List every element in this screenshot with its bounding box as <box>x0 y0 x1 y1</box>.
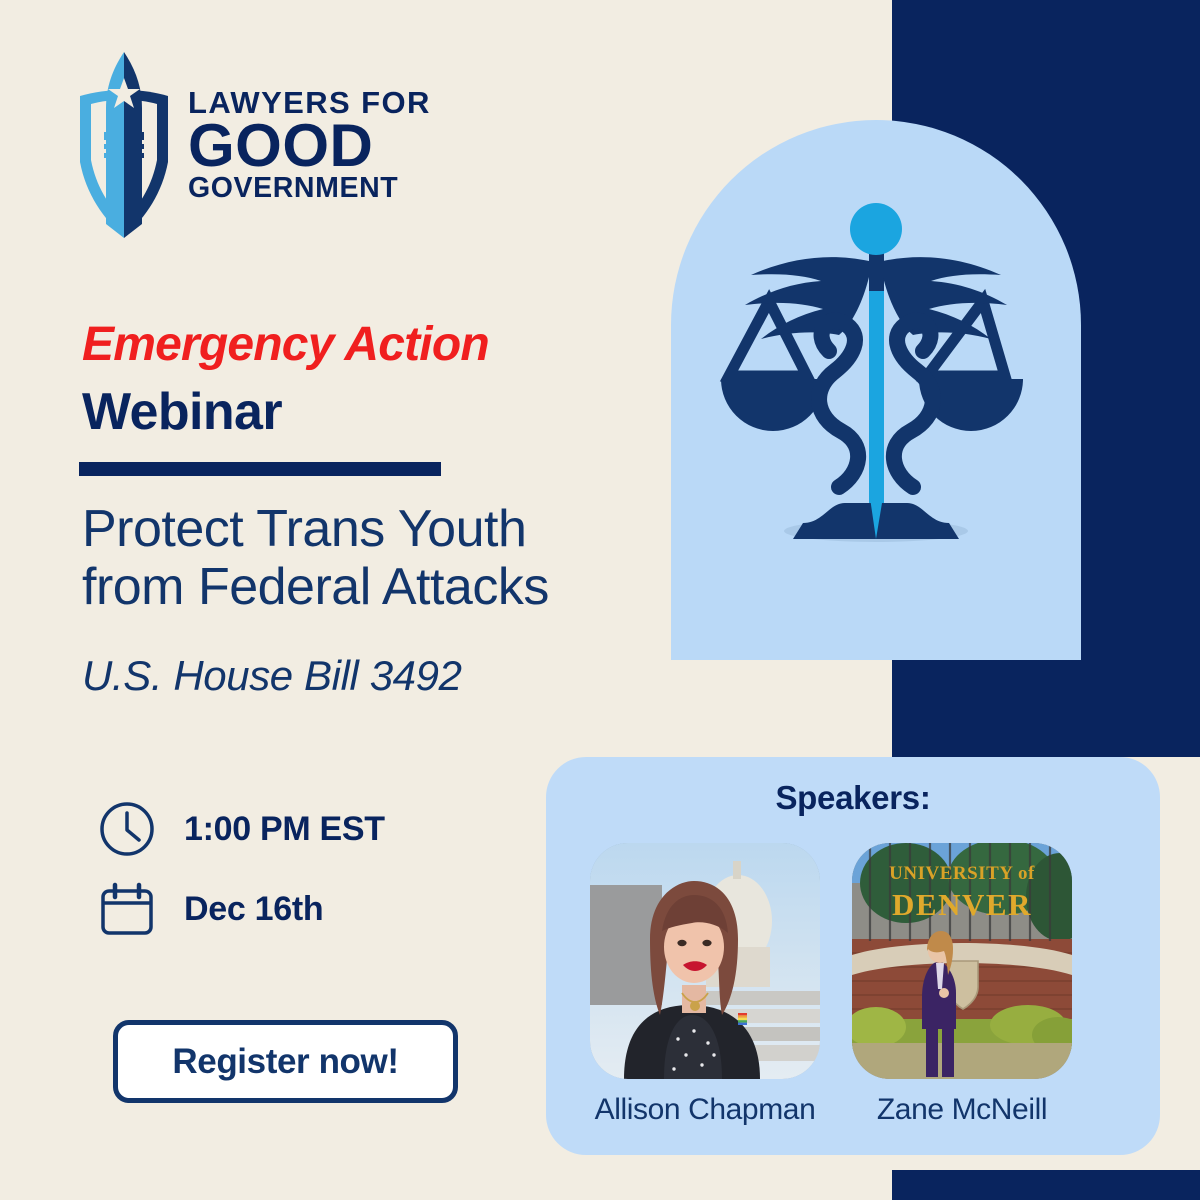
detail-row-date: Dec 16th <box>98 880 385 938</box>
logo-line-3: GOVERNMENT <box>188 175 431 202</box>
detail-label-date: Dec 16th <box>184 890 323 929</box>
detail-label-time: 1:00 PM EST <box>184 810 385 849</box>
speaker-card-1: Allison Chapman <box>590 843 820 1127</box>
speakers-panel: Speakers: <box>546 757 1160 1155</box>
speaker-photo-1 <box>590 843 820 1079</box>
speaker-name-2: Zane McNeill <box>852 1093 1072 1127</box>
eyebrow-label: Emergency Action <box>82 317 489 372</box>
event-details: 1:00 PM EST Dec 16th <box>98 800 385 960</box>
speakers-heading: Speakers: <box>546 779 1160 817</box>
portrait-denver-sign-image: UNIVERSITY of DENVER <box>852 843 1072 1079</box>
page-title: Protect Trans Youth from Federal Attacks <box>82 500 642 616</box>
speaker-name-1: Allison Chapman <box>590 1093 820 1127</box>
register-now-button[interactable]: Register now! <box>113 1020 458 1103</box>
brand-logo-text: LAWYERS FOR GOOD GOVERNMENT <box>188 88 431 203</box>
calendar-icon <box>98 880 156 938</box>
logo-line-2: GOOD <box>188 117 431 175</box>
speaker-photo-2: UNIVERSITY of DENVER <box>852 843 1072 1079</box>
kicker-label: Webinar <box>82 382 282 442</box>
illustration-arch-panel <box>671 120 1081 660</box>
speaker-card-2: UNIVERSITY of DENVER <box>852 843 1072 1127</box>
page-subtitle: U.S. House Bill 3492 <box>82 652 462 700</box>
caduceus-scales-of-justice-icon <box>711 191 1041 611</box>
brand-logo: LAWYERS FOR GOOD GOVERNMENT <box>78 52 431 238</box>
detail-row-time: 1:00 PM EST <box>98 800 385 858</box>
clock-icon <box>98 800 156 858</box>
svg-text:UNIVERSITY of: UNIVERSITY of <box>889 863 1035 884</box>
portrait-capitol-image <box>590 843 820 1079</box>
divider-rule <box>79 462 441 476</box>
speakers-list: Allison Chapman <box>590 843 1136 1127</box>
navy-bottom-block <box>892 1170 1200 1200</box>
poster-canvas: LAWYERS FOR GOOD GOVERNMENT Emergency Ac… <box>0 0 1200 1200</box>
shield-pen-star-emblem-icon <box>78 52 170 238</box>
svg-text:DENVER: DENVER <box>892 887 1032 922</box>
